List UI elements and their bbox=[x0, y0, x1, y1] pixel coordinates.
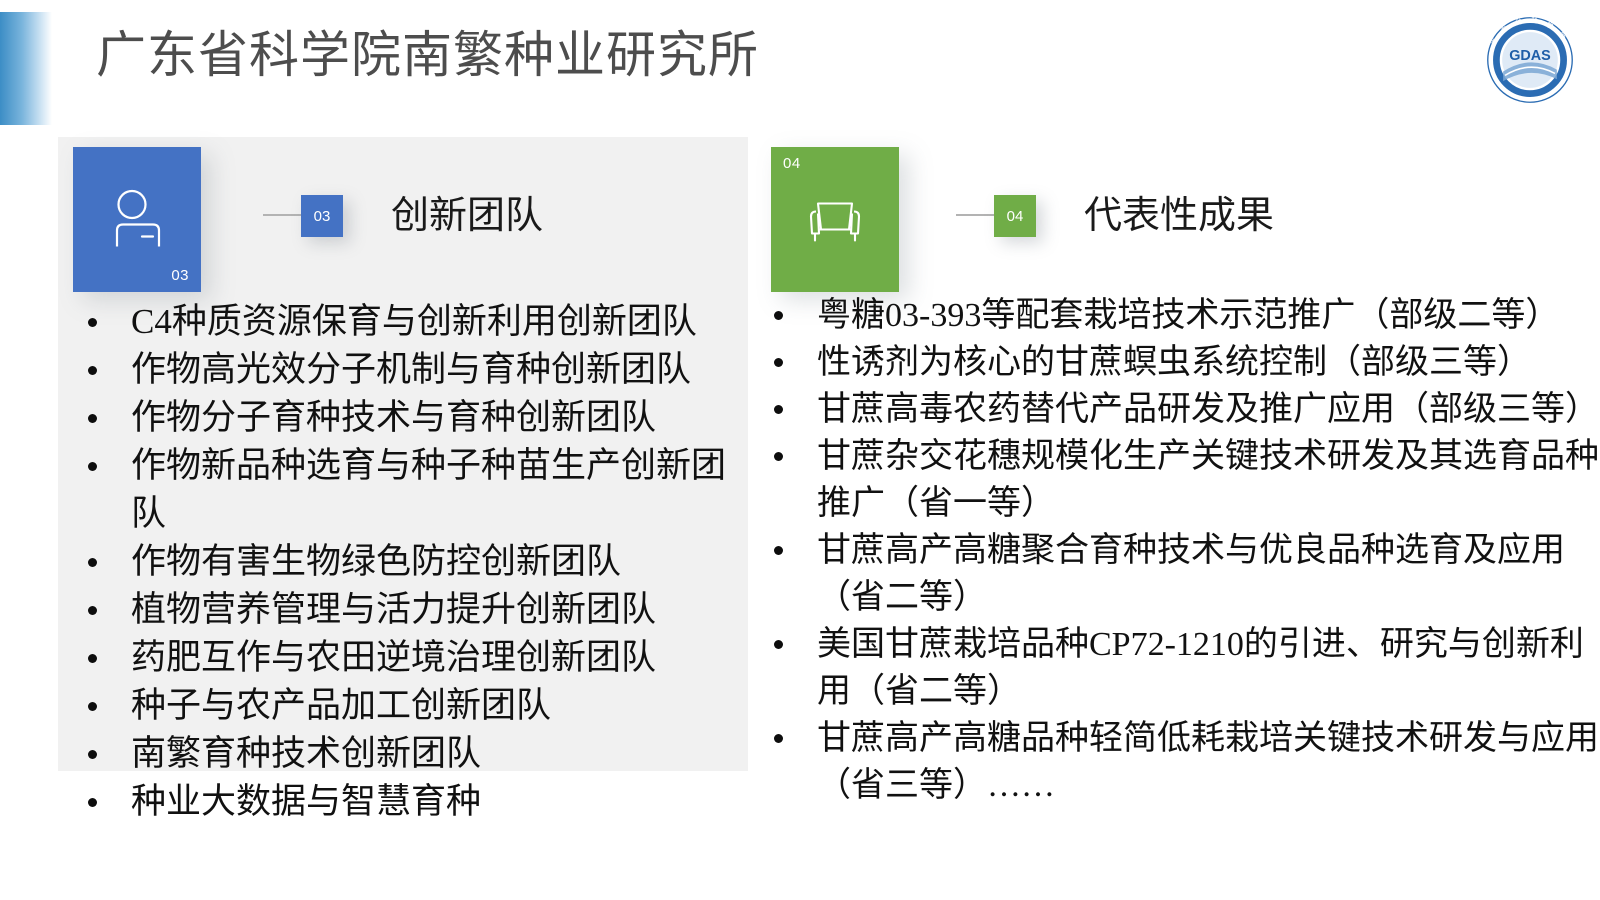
list-item: 美国甘蔗栽培品种CP72-1210的引进、研究与创新利用（省二等） bbox=[762, 621, 1600, 715]
section-connector-line-03 bbox=[263, 214, 301, 216]
header-accent-bar bbox=[0, 12, 52, 125]
section-tile-04[interactable]: 04 bbox=[771, 147, 899, 292]
list-item: 作物分子育种技术与育种创新团队 bbox=[76, 394, 736, 442]
list-item: 药肥互作与农田逆境治理创新团队 bbox=[76, 634, 736, 682]
gdas-logo: GDAS 广 东 省 科 学 院 GUANGDONG ACADEMY OF SC… bbox=[1482, 12, 1578, 108]
section-tile-03[interactable]: 03 bbox=[73, 147, 201, 292]
list-item: 植物营养管理与活力提升创新团队 bbox=[76, 586, 736, 634]
section-representative-achievements: 04 04 代表性成果 bbox=[756, 137, 1596, 297]
list-item: 甘蔗高毒农药替代产品研发及推广应用（部级三等） bbox=[762, 386, 1600, 433]
list-item: 粤糖03-393等配套栽培技术示范推广（部级二等） bbox=[762, 292, 1600, 339]
section-innovation-teams: 03 03 创新团队 bbox=[58, 137, 758, 297]
section-badge-04[interactable]: 04 bbox=[994, 195, 1036, 237]
section-connector-line-04 bbox=[956, 214, 994, 216]
list-item: 南繁育种技术创新团队 bbox=[76, 730, 736, 778]
section-title-04: 代表性成果 bbox=[1084, 185, 1274, 247]
list-item: 甘蔗高产高糖品种轻简低耗栽培关键技术研发与应用（省三等）…… bbox=[762, 715, 1600, 809]
list-item: 种业大数据与智慧育种 bbox=[76, 778, 736, 826]
list-item: 种子与农产品加工创新团队 bbox=[76, 682, 736, 730]
innovation-teams-list: C4种质资源保育与创新利用创新团队 作物高光效分子机制与育种创新团队 作物分子育… bbox=[76, 298, 736, 826]
list-item: 作物新品种选育与种子种苗生产创新团队 bbox=[76, 442, 736, 538]
list-item: 性诱剂为核心的甘蔗螟虫系统控制（部级三等） bbox=[762, 339, 1600, 386]
slide-canvas: 广东省科学院南繁种业研究所 GDAS 广 东 省 科 学 院 GUANGDONG… bbox=[0, 0, 1600, 900]
section-title-03: 创新团队 bbox=[391, 185, 543, 247]
list-item: C4种质资源保育与创新利用创新团队 bbox=[76, 298, 736, 346]
list-item: 作物有害生物绿色防控创新团队 bbox=[76, 538, 736, 586]
list-item: 甘蔗高产高糖聚合育种技术与优良品种选育及应用（省二等） bbox=[762, 527, 1600, 621]
section-header-03: 03 03 创新团队 bbox=[58, 137, 758, 297]
list-item: 作物高光效分子机制与育种创新团队 bbox=[76, 346, 736, 394]
section-tile-number-03: 03 bbox=[171, 267, 189, 284]
section-tile-number-04: 04 bbox=[783, 155, 801, 172]
list-item: 甘蔗杂交花穗规模化生产关键技术研发及其选育品种推广（省一等） bbox=[762, 433, 1600, 527]
svg-text:GDAS: GDAS bbox=[1509, 48, 1551, 64]
armchair-icon bbox=[804, 189, 866, 250]
section-badge-03[interactable]: 03 bbox=[301, 195, 343, 237]
page-title: 广东省科学院南繁种业研究所 bbox=[96, 16, 759, 94]
representative-achievements-list: 粤糖03-393等配套栽培技术示范推广（部级二等） 性诱剂为核心的甘蔗螟虫系统控… bbox=[762, 292, 1600, 809]
person-icon bbox=[109, 188, 165, 251]
section-header-04: 04 04 代表性成果 bbox=[756, 137, 1596, 297]
